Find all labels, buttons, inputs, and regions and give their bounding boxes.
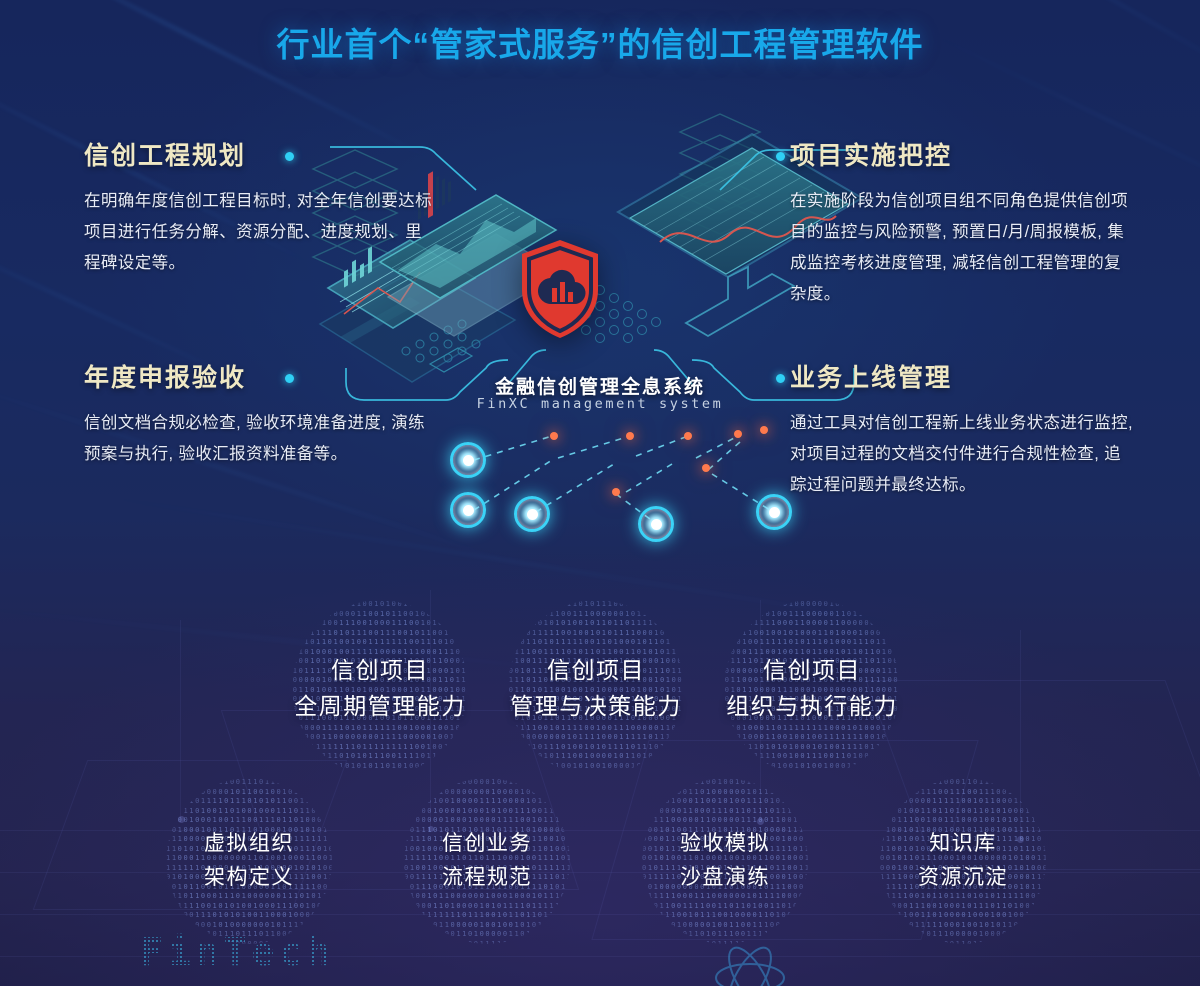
connector-dot-implementation — [776, 152, 785, 161]
module-sphere: 010011010110001101101001110000 010111011… — [880, 778, 1046, 944]
network-spark — [550, 432, 558, 440]
feature-heading: 年度申报验收 — [84, 358, 436, 394]
capability-line-1: 信创项目 — [510, 652, 682, 688]
network-spark — [626, 432, 634, 440]
module-line-1: 虚拟组织 — [204, 827, 294, 861]
feature-heading: 业务上线管理 — [790, 358, 1142, 394]
feature-body: 在实施阶段为信创项目组不同角色提供信创项目的监控与风险预警, 预置日/月/周报模… — [790, 186, 1135, 310]
module-line-1: 验收模拟 — [680, 827, 770, 861]
page-title: 行业首个“管家式服务”的信创工程管理软件 — [0, 18, 1200, 66]
network-node — [756, 494, 792, 530]
module-sphere: 111011111010011101110111100100 100100000… — [166, 778, 332, 944]
module-line-1: 信创业务 — [442, 827, 532, 861]
capability-line-2: 管理与决策能力 — [510, 688, 682, 724]
connector-dot-planning — [285, 152, 294, 161]
network-spark — [684, 432, 692, 440]
module-line-1: 知识库 — [918, 827, 1008, 861]
network-spark — [734, 430, 742, 438]
capability-sphere: 001010101111010111000011011111 011000011… — [508, 600, 684, 776]
network-node — [450, 442, 486, 478]
feature-body: 信创文档合规必检查, 验收环境准备进度, 演练预案与执行, 验收汇报资料准备等。 — [84, 408, 436, 470]
feature-block-implementation: 项目实施把控 在实施阶段为信创项目组不同角色提供信创项目的监控与风险预警, 预置… — [790, 136, 1142, 310]
network-node — [638, 506, 674, 542]
atom-icon — [700, 938, 800, 986]
feature-block-planning: 信创工程规划 在明确年度信创工程目标时, 对全年信创要达标项目进行任务分解、资源… — [84, 136, 436, 279]
feature-heading: 项目实施把控 — [790, 136, 1142, 172]
network-node — [514, 496, 550, 532]
feature-block-business-launch: 业务上线管理 通过工具对信创工程新上线业务状态进行监控, 对项目过程的文档交付件… — [790, 358, 1142, 501]
network-spark — [612, 488, 620, 496]
module-sphere: 001111101110010010101010111100 110100001… — [642, 778, 808, 944]
capability-line-2: 全周期管理能力 — [294, 688, 466, 724]
infographic-canvas: 行业首个“管家式服务”的信创工程管理软件 — [0, 0, 1200, 986]
fintech-watermark: FinTech — [140, 930, 335, 974]
capability-sphere: 101011100011001010010011000011 011101000… — [292, 600, 468, 776]
feature-body: 在明确年度信创工程目标时, 对全年信创要达标项目进行任务分解、资源分配、进度规划… — [84, 186, 436, 279]
module-line-2: 架构定义 — [204, 861, 294, 895]
capability-line-1: 信创项目 — [726, 652, 898, 688]
feature-block-annual-acceptance: 年度申报验收 信创文档合规必检查, 验收环境准备进度, 演练预案与执行, 验收汇… — [84, 358, 436, 470]
connector-dot-business — [776, 374, 785, 383]
module-line-2: 流程规范 — [442, 861, 532, 895]
shield-cloud-chart-icon — [518, 238, 602, 340]
network-spark — [760, 426, 768, 434]
feature-body: 通过工具对信创工程新上线业务状态进行监控, 对项目过程的文档交付件进行合规性检查… — [790, 408, 1135, 501]
connector-dot-annual — [285, 374, 294, 383]
node-network — [440, 418, 810, 548]
capability-line-2: 组织与执行能力 — [726, 688, 898, 724]
capability-sphere: 111011111101000000100101010001 001110001… — [724, 600, 900, 776]
network-node — [450, 492, 486, 528]
feature-heading: 信创工程规划 — [84, 136, 436, 172]
module-sphere: 110001001100000100110011101011 101011100… — [404, 778, 570, 944]
module-line-2: 沙盘演练 — [680, 861, 770, 895]
capability-line-1: 信创项目 — [294, 652, 466, 688]
module-line-2: 资源沉淀 — [918, 861, 1008, 895]
network-spark — [702, 464, 710, 472]
